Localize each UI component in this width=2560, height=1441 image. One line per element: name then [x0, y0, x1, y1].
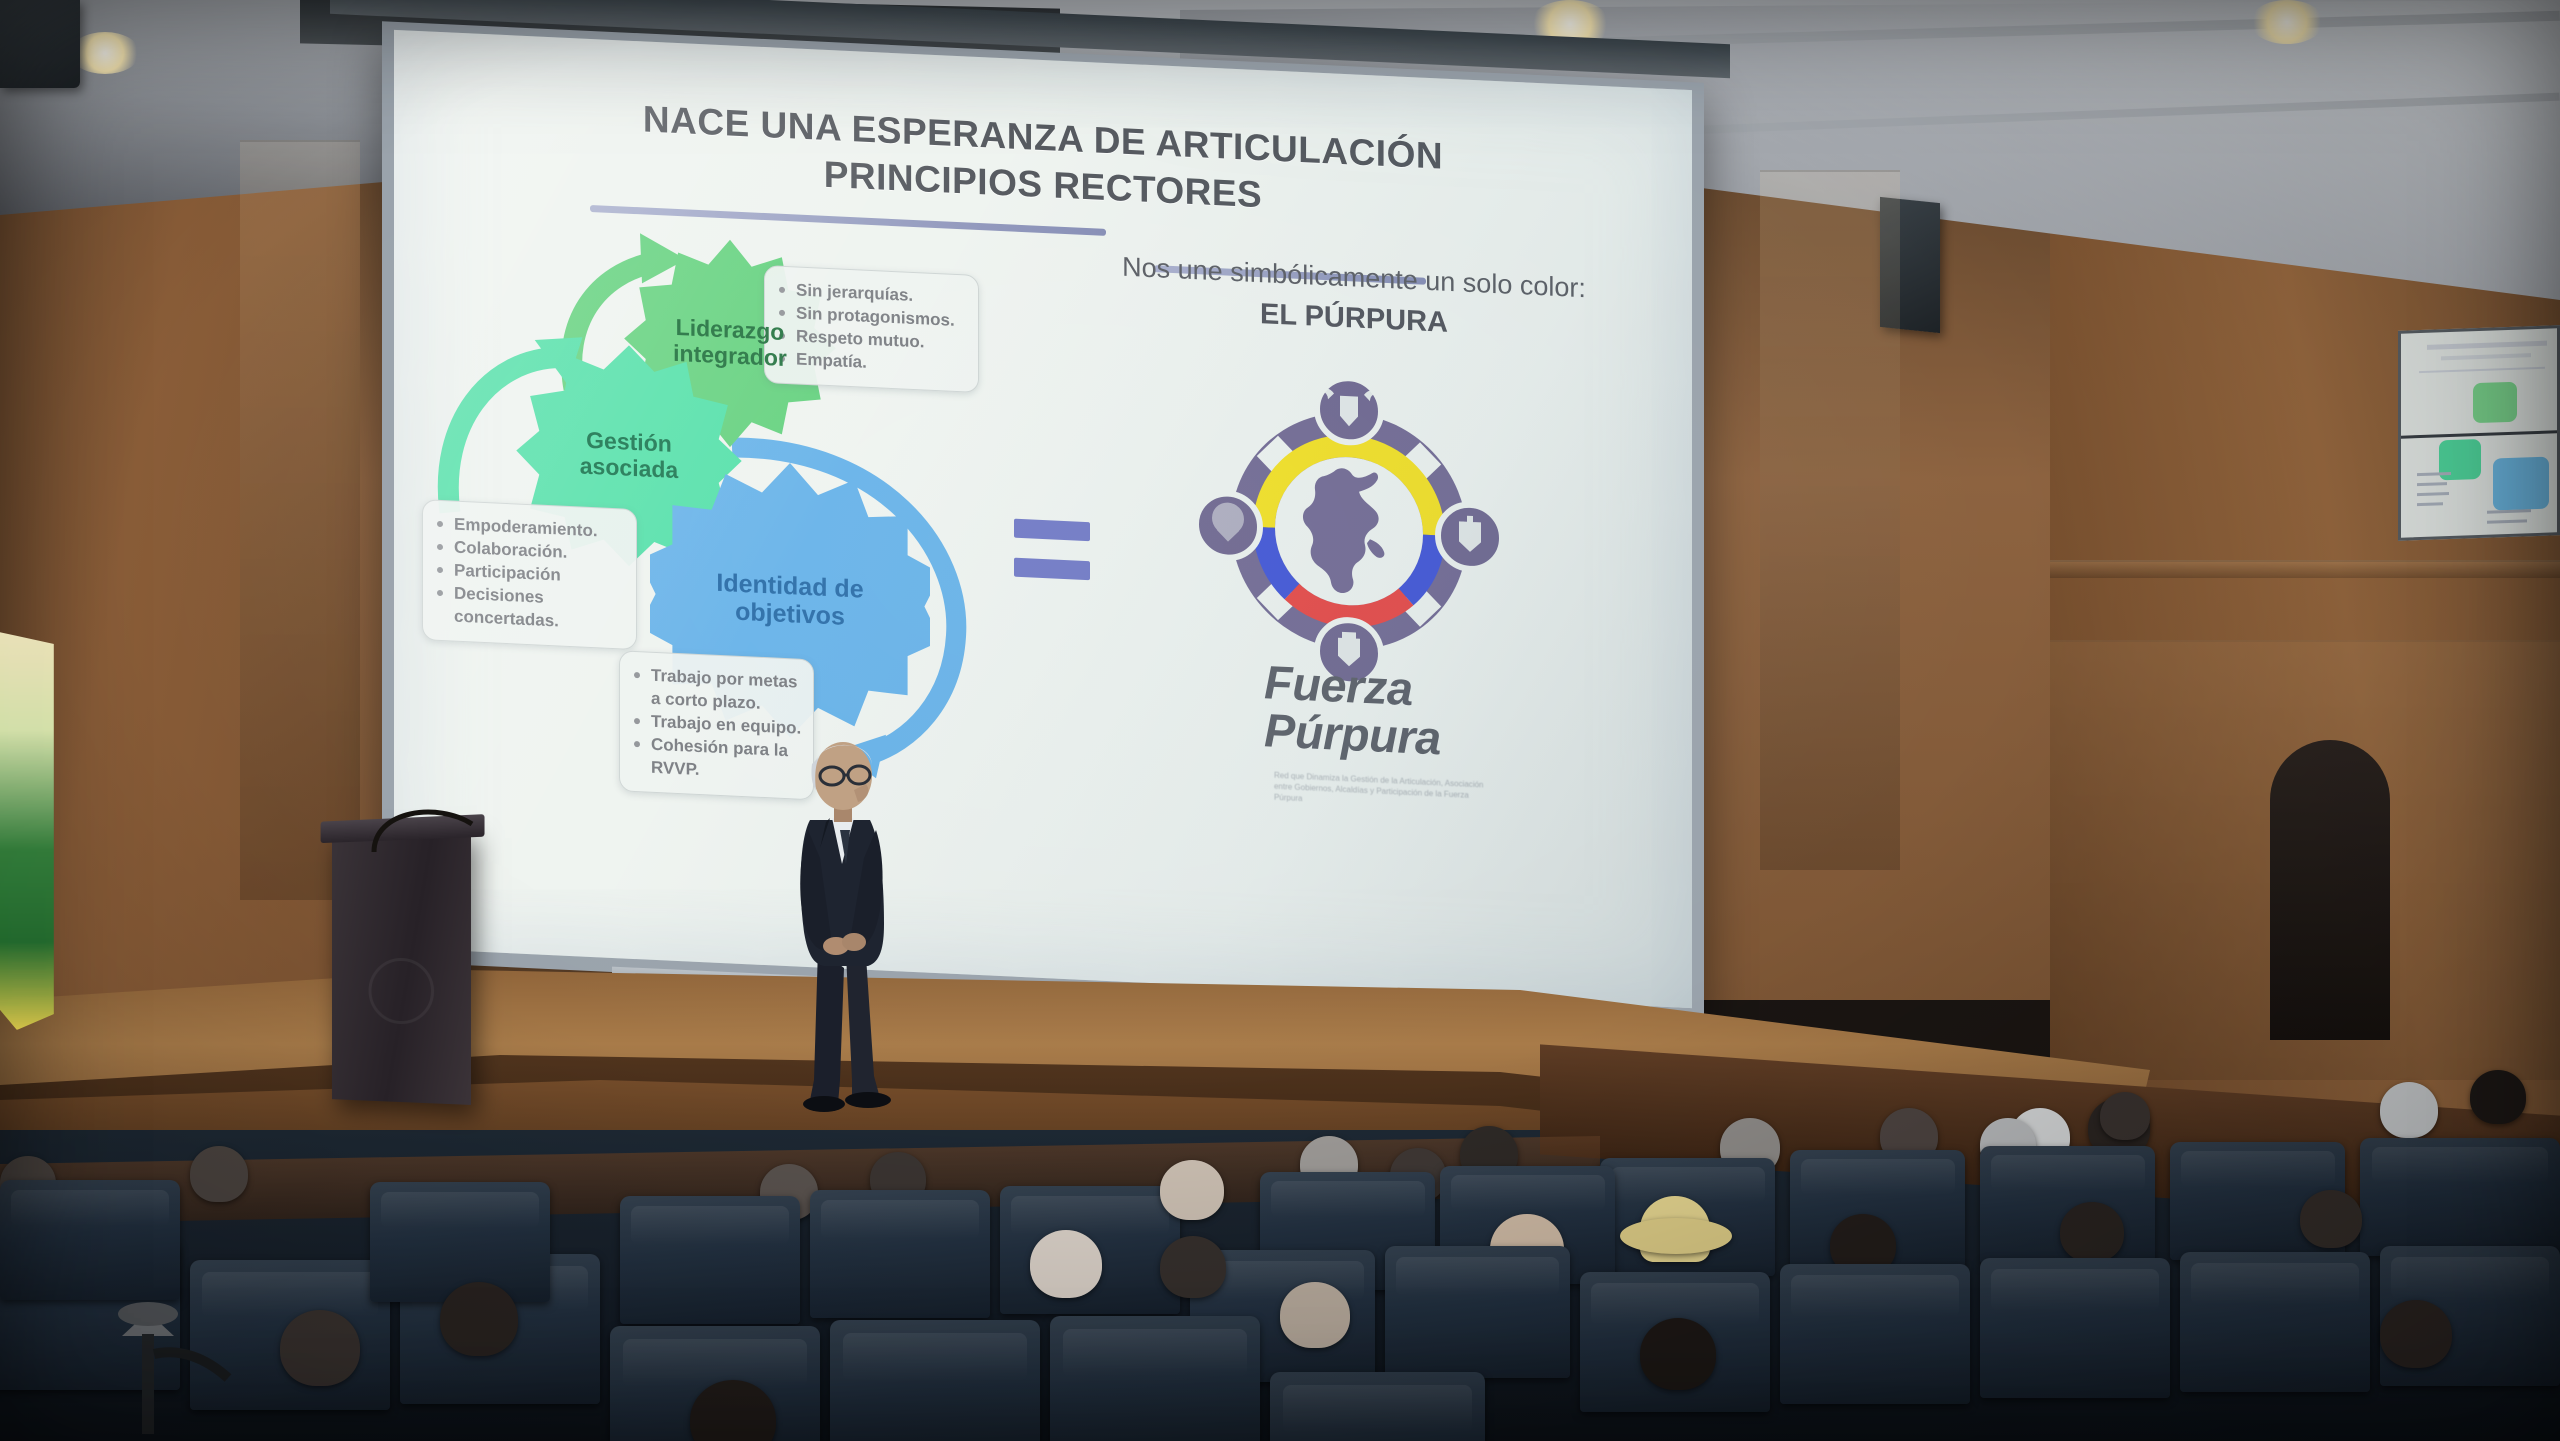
callout-list: Sin jerarquías. Sin protagonismos. Respe… [777, 279, 962, 379]
audience-head [2470, 1070, 2526, 1124]
monitor-mini-gear-green [2473, 382, 2517, 424]
seat [1050, 1316, 1260, 1441]
seat [1980, 1258, 2170, 1398]
audience-head [1620, 1218, 1732, 1254]
slide-title: NACE UNA ESPERANZA DE ARTICULACIÓN PRINC… [394, 84, 1692, 239]
wall-speaker [0, 0, 80, 88]
audience-head [2380, 1082, 2438, 1138]
audience-head [440, 1282, 518, 1356]
callout-list: Trabajo por metas a corto plazo. Trabajo… [632, 664, 797, 786]
seat [1385, 1246, 1570, 1378]
seat [2360, 1138, 2560, 1256]
gear-identidad-label: Identidad de objetivos [716, 569, 863, 632]
ceiling-light [2250, 0, 2324, 44]
lectern-emblem [369, 958, 435, 1025]
doorway [2270, 740, 2390, 1040]
audience-head [2380, 1300, 2452, 1368]
wall-panel [2050, 560, 2560, 578]
seat [1780, 1264, 1970, 1404]
fuerza-purpura-wordmark: Fuerza Púrpura [1264, 658, 1441, 762]
seat [810, 1190, 990, 1318]
photo-canvas: NACE UNA ESPERANZA DE ARTICULACIÓN PRINC… [0, 0, 2560, 1441]
gear-gestion-label: Gestión asociada [580, 428, 678, 484]
audience-head [1030, 1230, 1102, 1298]
slide: NACE UNA ESPERANZA DE ARTICULACIÓN PRINC… [394, 30, 1692, 1008]
monitor-seam [2401, 430, 2557, 438]
callout-gestion: Empoderamiento. Colaboración. Participac… [422, 499, 637, 650]
emblem-fineprint: Red que Dinamiza la Gestión de la Articu… [1274, 771, 1484, 813]
audience-head [1280, 1282, 1350, 1348]
stage-light-stand [110, 1300, 310, 1441]
right-column-text: Nos une simbólicamente un solo color: EL… [1094, 248, 1614, 349]
gear-liderazgo-label: Liderazgo integrador [673, 315, 787, 372]
seat [370, 1182, 550, 1302]
audience-head [190, 1146, 248, 1202]
seat [620, 1196, 800, 1324]
seat [2180, 1252, 2370, 1392]
audience-head [2300, 1190, 2362, 1248]
ceiling-light [70, 32, 140, 74]
fuerza-purpura-emblem [1184, 359, 1514, 704]
secondary-monitor [2398, 325, 2560, 541]
audience-head [1160, 1160, 1224, 1220]
callout-list: Empoderamiento. Colaboración. Participac… [435, 513, 620, 636]
wordmark-line2: Púrpura [1264, 706, 1441, 762]
seat [1270, 1372, 1485, 1441]
lectern [332, 829, 471, 1105]
wall-panel [1760, 170, 1900, 870]
monitor-mini-gear-blue [2493, 457, 2549, 511]
audience-head [1640, 1318, 1716, 1390]
seat [830, 1320, 1040, 1441]
flag [0, 630, 54, 1030]
equals-sign-icon [1014, 519, 1090, 585]
projection-screen: NACE UNA ESPERANZA DE ARTICULACIÓN PRINC… [394, 30, 1692, 1008]
callout-liderazgo: Sin jerarquías. Sin protagonismos. Respe… [764, 265, 979, 393]
audience-head [1160, 1236, 1226, 1298]
title-divider-left [590, 205, 1106, 236]
presenter [780, 718, 905, 1118]
wall-panel [240, 140, 360, 900]
seat [0, 1180, 180, 1300]
audience-head [2100, 1092, 2150, 1140]
audience-head [2060, 1202, 2124, 1262]
microphone-icon [368, 800, 488, 860]
